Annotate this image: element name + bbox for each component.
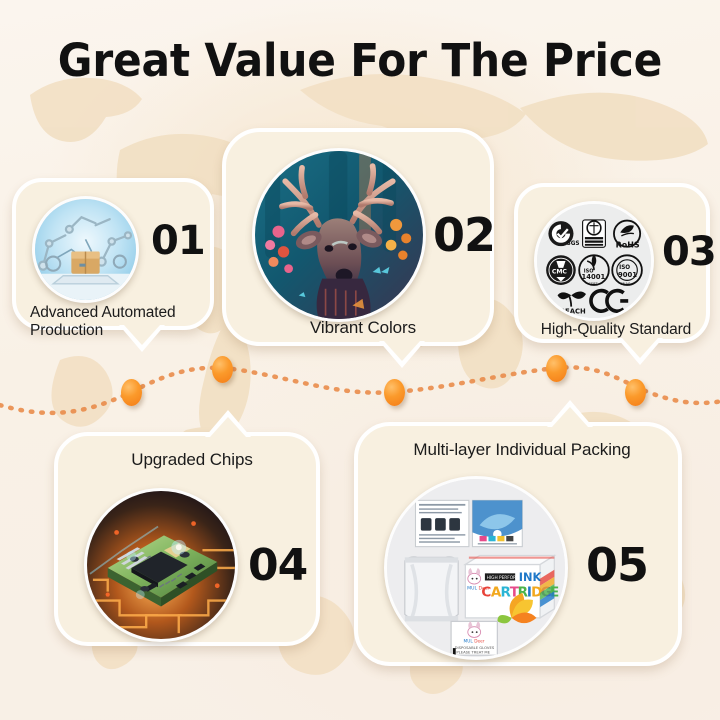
- connector-dot-1: [121, 379, 142, 406]
- svg-text:14001: 14001: [581, 273, 605, 281]
- feature-card-02[interactable]: 02 Vibrant Colors: [222, 128, 494, 346]
- svg-text:MUL: MUL: [464, 639, 474, 645]
- ink-cartridge-packaging-icon: HIGH PERFORMANCE INK CA RT RI DG E: [384, 476, 568, 660]
- connector-dot-2: [212, 356, 233, 383]
- feature-card-03[interactable]: SGS RoHS CMC: [514, 183, 710, 343]
- svg-text:Deer: Deer: [474, 639, 485, 645]
- svg-text:CERT: CERT: [588, 282, 598, 286]
- colorful-deer-icon: [252, 148, 426, 322]
- card-number-01: 01: [151, 218, 205, 264]
- svg-text:CMC: CMC: [552, 269, 568, 276]
- svg-text:9001: 9001: [618, 271, 637, 279]
- card-label-03: High-Quality Standard: [526, 321, 706, 339]
- card-number-04: 04: [248, 540, 307, 591]
- feature-card-05[interactable]: Multi-layer Individual Packing: [354, 422, 682, 666]
- card-label-04: Upgraded Chips: [72, 450, 312, 470]
- card-number-03: 03: [662, 229, 716, 275]
- robotic-automation-icon: [32, 196, 139, 303]
- connector-dot-3: [384, 379, 405, 406]
- svg-text:Deer: Deer: [478, 585, 489, 591]
- svg-text:REACH: REACH: [560, 307, 586, 315]
- svg-text:DISPOSABLE GLOVES: DISPOSABLE GLOVES: [455, 646, 495, 650]
- feature-card-01[interactable]: 01 Advanced Automated Production: [12, 178, 214, 330]
- svg-text:RoHS: RoHS: [616, 240, 640, 249]
- svg-text:CNAS: CNAS: [620, 282, 631, 286]
- card-number-02: 02: [433, 208, 495, 262]
- svg-text:PLEASE TREAT ME: PLEASE TREAT ME: [456, 650, 490, 654]
- card-label-02: Vibrant Colors: [258, 318, 468, 338]
- svg-text:SGS: SGS: [567, 241, 580, 247]
- card-label-05: Multi-layer Individual Packing: [366, 440, 678, 460]
- card-number-05: 05: [586, 538, 648, 592]
- feature-card-04[interactable]: Upgraded Chips: [54, 432, 320, 646]
- certification-badges-icon: SGS RoHS CMC: [534, 201, 654, 321]
- svg-text:INK: INK: [519, 570, 543, 584]
- page-title: Great Value For The Price: [22, 34, 699, 87]
- connector-dot-4: [546, 355, 567, 382]
- circuit-chip-icon: [84, 488, 238, 642]
- svg-text:MUL: MUL: [467, 585, 477, 591]
- card-label-01: Advanced Automated Production: [30, 304, 210, 341]
- connector-dot-5: [625, 379, 646, 406]
